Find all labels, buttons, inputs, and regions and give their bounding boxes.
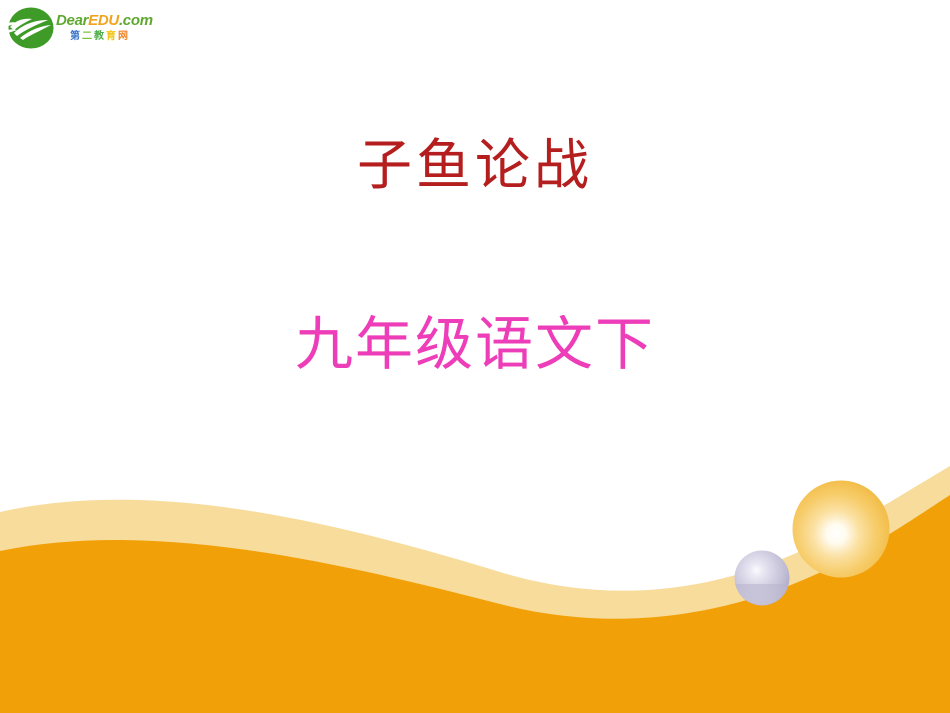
logo-cn-char-3: 教	[94, 31, 106, 42]
logo-cn-char-5: 网	[118, 31, 130, 42]
site-logo[interactable]: DearEDU.com 第二教育网	[8, 4, 168, 50]
slide-title: 子鱼论战	[357, 130, 593, 202]
logo-wordmark: DearEDU.com	[56, 12, 168, 29]
logo-chinese-subtitle: 第二教育网	[70, 31, 162, 44]
wave-light	[0, 466, 950, 713]
logo-cn-char-1: 第	[70, 31, 82, 42]
lavender-sphere	[735, 551, 790, 606]
logo-wordmark-com: .com	[119, 12, 153, 29]
logo-wordmark-edu: EDU	[88, 12, 119, 29]
logo-wordmark-dear: Dear	[56, 12, 88, 29]
wave-dark	[0, 495, 950, 713]
dearedu-circle-icon	[8, 7, 54, 49]
orange-sphere	[793, 481, 890, 578]
presentation-slide: DearEDU.com 第二教育网 子鱼论战 九年级语文下	[0, 0, 950, 713]
slide-subtitle: 九年级语文下	[295, 305, 655, 385]
lavender-sphere-shadow	[735, 584, 789, 605]
slide-title-row: 子鱼论战	[0, 130, 950, 202]
slide-subtitle-row: 九年级语文下	[0, 305, 950, 385]
logo-cn-char-4: 育	[106, 31, 118, 42]
logo-cn-char-2: 二	[82, 31, 94, 42]
